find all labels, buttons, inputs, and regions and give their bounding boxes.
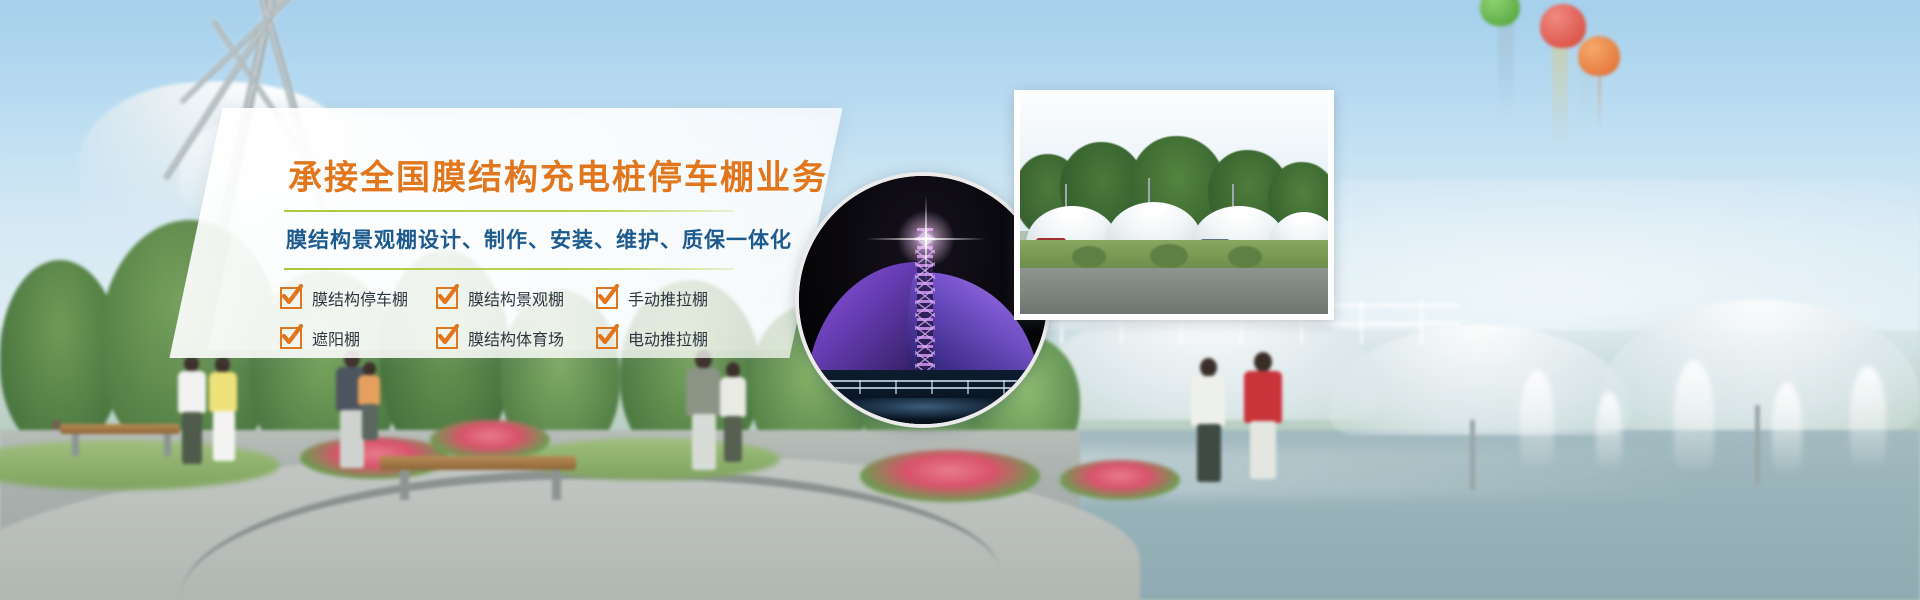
feature-label: 电动推拉棚	[628, 326, 708, 350]
feature-item-electric-retractable[interactable]: 电动推拉棚	[596, 326, 746, 350]
feature-row: 遮阳棚 膜结构体育场 电动推拉棚	[280, 326, 780, 350]
promo-text-content: 承接全国膜结构充电桩停车棚业务 膜结构景观棚设计、制作、安装、维护、质保一体化 …	[258, 128, 818, 348]
feature-item-sun-shade[interactable]: 遮阳棚	[280, 326, 436, 350]
feature-label: 膜结构停车棚	[312, 286, 408, 310]
check-icon	[436, 327, 458, 349]
balloon-red-icon	[1540, 4, 1586, 48]
feature-label: 遮阳棚	[312, 326, 360, 350]
fountain-jet	[1520, 370, 1554, 466]
fountain-jet	[1674, 360, 1714, 470]
divider-top	[284, 210, 734, 212]
balloon-streamer	[1498, 18, 1514, 118]
feature-list: 膜结构停车棚 膜结构景观棚 手动推拉	[280, 286, 780, 366]
page-title: 承接全国膜结构充电桩停车棚业务	[288, 150, 828, 199]
bench-leg	[552, 470, 561, 500]
bench-leg	[400, 470, 409, 500]
check-icon	[280, 327, 302, 349]
park-bench	[380, 456, 576, 470]
subtitle: 膜结构景观棚设计、制作、安装、维护、质保一体化	[286, 224, 792, 254]
check-icon	[436, 287, 458, 309]
flower-bed	[430, 420, 550, 460]
divider-bottom	[284, 268, 734, 270]
check-icon	[280, 287, 302, 309]
photo-inner	[1020, 96, 1328, 314]
park-bench	[60, 424, 180, 434]
canopy-pole	[1755, 405, 1760, 485]
promo-banner: 承接全国膜结构充电桩停车棚业务 膜结构景观棚设计、制作、安装、维护、质保一体化 …	[0, 0, 1920, 600]
night-railing	[813, 380, 1033, 394]
balloon-ribbon	[1598, 74, 1601, 134]
photo-hedge	[1150, 244, 1188, 268]
photo-hedge	[1228, 246, 1262, 268]
check-icon	[596, 327, 618, 349]
rect-photo-parking-canopy: 膜结构停车棚实景照片	[1014, 90, 1334, 320]
feature-label: 膜结构体育场	[468, 326, 564, 350]
fountain-jet	[1850, 366, 1886, 466]
ground-glow	[829, 398, 1019, 420]
photo-road	[1020, 268, 1328, 314]
fountain-jet	[1772, 382, 1802, 472]
check-icon	[596, 287, 618, 309]
feature-item-landscape-shed[interactable]: 膜结构景观棚	[436, 286, 596, 310]
bench-leg	[164, 434, 171, 456]
canopy-pole	[1470, 420, 1475, 490]
feature-label: 手动推拉棚	[628, 286, 708, 310]
feature-item-stadium[interactable]: 膜结构体育场	[436, 326, 596, 350]
feature-item-manual-retractable[interactable]: 手动推拉棚	[596, 286, 746, 310]
feature-label: 膜结构景观棚	[468, 286, 564, 310]
balloon-orange-icon	[1578, 36, 1620, 76]
flower-bed	[860, 450, 1040, 502]
light-flare-icon	[897, 210, 955, 268]
photo-hedge	[1072, 246, 1106, 268]
balloon-streamer	[1552, 36, 1568, 146]
bench-leg	[72, 434, 79, 456]
feature-item-parking-shed[interactable]: 膜结构停车棚	[280, 286, 436, 310]
flower-bed	[1060, 460, 1180, 500]
feature-row: 膜结构停车棚 膜结构景观棚 手动推拉	[280, 286, 780, 310]
fountain-jet	[1596, 392, 1622, 468]
circle-photo-night-membrane: 夜景膜结构张拉膜建筑	[795, 172, 1051, 428]
